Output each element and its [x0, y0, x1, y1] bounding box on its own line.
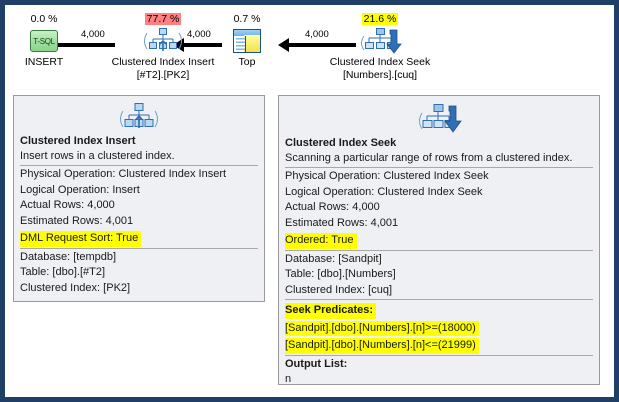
tooltip-right-output-list-label: Output List:: [285, 357, 593, 373]
tooltip-right-divider-4: [285, 355, 593, 356]
clustered-index-seek-icon-svg: [357, 26, 403, 56]
plan-node-insert-root[interactable]: 0.0 % T-SQL INSERT: [9, 13, 79, 69]
tooltip-left-row-clustered-index-value: [PK2]: [103, 282, 130, 294]
top-icon-box: [233, 29, 261, 53]
tooltip-right-row-physical-operation-value: Clustered Index Seek: [383, 170, 488, 182]
tooltip-right-description: Scanning a particular range of rows from…: [285, 151, 593, 166]
tooltip-right-output-list-item-1: n: [285, 372, 593, 388]
tooltip-right-divider-2: [285, 250, 593, 251]
tsql-icon: T-SQL: [9, 26, 79, 56]
tooltip-left-row-clustered-index: Clustered Index: [PK2]: [20, 281, 258, 297]
tooltip-right-output-list-section: Output List: n: [285, 357, 593, 388]
tooltip-left-row-logical-operation: Logical Operation: Insert: [20, 183, 258, 199]
tooltip-left-description: Insert rows in a clustered index.: [20, 149, 258, 164]
tooltip-left-row-actual-rows: Actual Rows: 4,000: [20, 198, 258, 214]
tooltip-left-properties-group-2: Database: [tempdb] Table: [dbo].[#T2] Cl…: [20, 250, 258, 297]
clustered-index-insert-icon-svg: [141, 27, 185, 55]
top-icon-highlight-band: [244, 35, 260, 52]
tooltip-left-row-actual-rows-value: 4,000: [87, 199, 115, 211]
tooltip-right-row-clustered-index-value: [cuq]: [368, 284, 392, 296]
tooltip-left-row-table-key: Table:: [20, 266, 49, 278]
tooltip-right-seek-predicates-label-line: Seek Predicates:: [285, 301, 593, 319]
plan-node-cost-2-value: 0.7 %: [234, 13, 261, 25]
plan-node-top[interactable]: 0.7 % Top: [207, 13, 287, 69]
tooltip-left-body: Clustered Index Insert Insert rows in a …: [14, 134, 264, 302]
tooltip-left-row-physical-operation-key: Physical Operation:: [20, 168, 115, 180]
tooltip-right-row-physical-operation-key: Physical Operation:: [285, 170, 380, 182]
tooltip-right-row-estimated-rows-value: 4,001: [371, 217, 399, 229]
tooltip-right-row-ordered: Ordered: True: [285, 231, 593, 249]
tooltip-left-title: Clustered Index Insert: [20, 134, 258, 149]
tooltip-right-row-logical-operation-key: Logical Operation:: [285, 186, 374, 198]
tooltip-right-seek-predicate-2-line: [Sandpit].[dbo].[Numbers].[n]<=(21999): [285, 336, 593, 354]
tooltip-right-divider-1: [285, 167, 593, 168]
tooltip-clustered-index-seek: Clustered Index Seek Scanning a particul…: [278, 95, 600, 385]
tsql-icon-box: T-SQL: [30, 30, 58, 52]
plan-node-cost-3: 21.6 %: [295, 13, 465, 26]
tooltip-right-row-physical-operation: Physical Operation: Clustered Index Seek: [285, 169, 593, 185]
tooltip-right-row-table-value: [dbo].[Numbers]: [317, 268, 395, 280]
tooltip-left-row-logical-operation-key: Logical Operation:: [20, 184, 109, 196]
tooltip-clustered-index-insert: Clustered Index Insert Insert rows in a …: [13, 95, 265, 302]
tooltip-right-seek-predicate-1-line: [Sandpit].[dbo].[Numbers].[n]>=(18000): [285, 319, 593, 337]
tooltip-right-icon: [279, 96, 599, 136]
tooltip-left-row-logical-operation-value: Insert: [112, 184, 140, 196]
tooltip-right-row-logical-operation: Logical Operation: Clustered Index Seek: [285, 185, 593, 201]
tooltip-right-row-clustered-index-key: Clustered Index:: [285, 284, 365, 296]
plan-node-label-1-line2: [#T2].[PK2]: [78, 69, 248, 82]
execution-plan-canvas: 4,000 4,000 4,000 0.0 % T-SQL INSERT: [5, 5, 614, 397]
plan-node-label-3-line1: Clustered Index Seek: [295, 56, 465, 69]
top-icon-column-separator: [245, 36, 246, 52]
tooltip-right-body: Clustered Index Seek Scanning a particul…: [279, 136, 599, 394]
tooltip-left-row-dml-request-sort: DML Request Sort: True: [20, 229, 258, 247]
plan-node-cost-1-value: 77.7 %: [145, 13, 182, 25]
tsql-icon-label: T-SQL: [33, 37, 55, 46]
tooltip-left-row-database-value: [tempdb]: [73, 251, 116, 263]
tooltip-right-row-actual-rows-value: 4,000: [352, 201, 380, 213]
clustered-index-insert-icon-svg: [117, 102, 161, 132]
tooltip-right-row-table: Table: [dbo].[Numbers]: [285, 267, 593, 283]
tooltip-right-divider-3: [285, 299, 593, 300]
plan-node-cost-2: 0.7 %: [207, 13, 287, 26]
tooltip-right-row-database-key: Database:: [285, 253, 335, 265]
tooltip-right-seek-predicate-2: [Sandpit].[dbo].[Numbers].[n]<=(21999): [285, 338, 479, 354]
tooltip-right-row-ordered-key: Ordered:: [285, 234, 328, 246]
plan-node-cost-3-value: 21.6 %: [362, 13, 399, 25]
top-icon: [207, 26, 287, 56]
clustered-index-seek-icon-svg: [415, 102, 463, 134]
plan-node-cost-0: 0.0 %: [9, 13, 79, 26]
tooltip-right-properties-group-1: Physical Operation: Clustered Index Seek…: [285, 169, 593, 249]
screenshot-frame: 4,000 4,000 4,000 0.0 % T-SQL INSERT: [0, 0, 619, 402]
tooltip-left-row-estimated-rows-value: 4,001: [106, 215, 134, 227]
tooltip-right-seek-predicates-section: Seek Predicates: [Sandpit].[dbo].[Number…: [285, 301, 593, 354]
plan-node-cost-0-value: 0.0 %: [31, 13, 58, 25]
tooltip-left-row-physical-operation-value: Clustered Index Insert: [118, 168, 226, 180]
tooltip-left-divider-1: [20, 165, 258, 166]
tooltip-right-row-database: Database: [Sandpit]: [285, 252, 593, 268]
plan-node-clustered-index-seek[interactable]: 21.6 %: [295, 13, 465, 81]
tooltip-right-seek-predicates-label: Seek Predicates:: [285, 303, 376, 319]
plan-node-label-2: Top: [207, 56, 287, 69]
tooltip-left-properties-group-1: Physical Operation: Clustered Index Inse…: [20, 167, 258, 247]
tooltip-left-row-actual-rows-key: Actual Rows:: [20, 199, 84, 211]
tooltip-right-row-actual-rows: Actual Rows: 4,000: [285, 200, 593, 216]
tooltip-left-row-clustered-index-key: Clustered Index:: [20, 282, 100, 294]
tooltip-left-row-table-value: [dbo].[#T2]: [52, 266, 105, 278]
tooltip-left-row-estimated-rows: Estimated Rows: 4,001: [20, 214, 258, 230]
tooltip-left-icon: [14, 96, 264, 134]
tooltip-right-row-ordered-value: True: [331, 234, 353, 246]
tooltip-right-row-actual-rows-key: Actual Rows:: [285, 201, 349, 213]
tooltip-left-row-dml-request-sort-value: True: [116, 232, 138, 244]
tooltip-right-row-database-value: [Sandpit]: [338, 253, 381, 265]
tooltip-left-row-dml-request-sort-key: DML Request Sort:: [20, 232, 113, 244]
plan-node-label-3-line2: [Numbers].[cuq]: [295, 69, 465, 82]
tooltip-left-row-physical-operation: Physical Operation: Clustered Index Inse…: [20, 167, 258, 183]
tooltip-left-row-database-key: Database:: [20, 251, 70, 263]
tooltip-left-row-estimated-rows-key: Estimated Rows:: [20, 215, 103, 227]
tooltip-left-row-dml-request-sort-highlight: DML Request Sort: True: [20, 231, 141, 247]
tooltip-right-properties-group-2: Database: [Sandpit] Table: [dbo].[Number…: [285, 252, 593, 299]
tooltip-right-row-estimated-rows-key: Estimated Rows:: [285, 217, 368, 229]
tooltip-right-row-clustered-index: Clustered Index: [cuq]: [285, 283, 593, 299]
tooltip-right-row-logical-operation-value: Clustered Index Seek: [377, 186, 482, 198]
plan-node-label-0: INSERT: [9, 56, 79, 69]
tooltip-right-row-table-key: Table:: [285, 268, 314, 280]
execution-plan-graph: 4,000 4,000 4,000 0.0 % T-SQL INSERT: [5, 5, 614, 87]
tooltip-right-row-estimated-rows: Estimated Rows: 4,001: [285, 216, 593, 232]
tooltip-right-seek-predicate-1: [Sandpit].[dbo].[Numbers].[n]>=(18000): [285, 321, 479, 337]
tooltip-left-row-database: Database: [tempdb]: [20, 250, 258, 266]
clustered-index-seek-icon: [295, 26, 465, 56]
tooltip-right-title: Clustered Index Seek: [285, 136, 593, 151]
tooltip-right-row-ordered-highlight: Ordered: True: [285, 233, 357, 249]
top-icon-rows: [236, 38, 245, 50]
tooltip-left-divider-2: [20, 248, 258, 249]
tooltip-left-row-table: Table: [dbo].[#T2]: [20, 265, 258, 281]
